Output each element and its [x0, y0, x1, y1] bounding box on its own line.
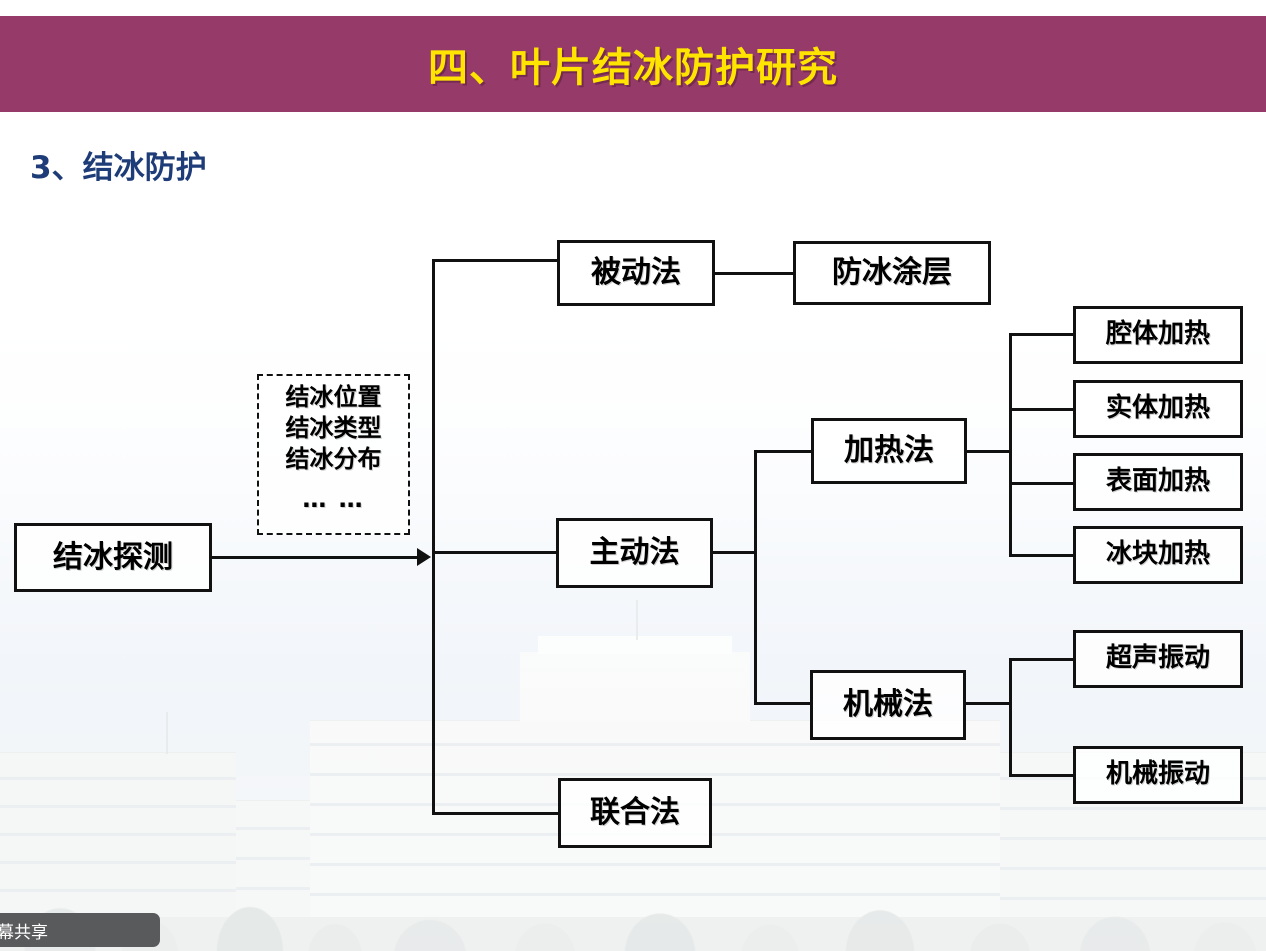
edge-trunk-to-passive [432, 259, 557, 262]
edge-heating-to-bus [967, 450, 1012, 453]
node-heating-method: 加热法 [811, 418, 967, 484]
node-combined-method: 联合法 [558, 778, 712, 848]
detection-output-line-1: 结冰位置 [286, 382, 382, 413]
detection-output-line-3: 结冰分布 [286, 444, 382, 475]
node-surface-heating-label: 表面加热 [1106, 468, 1210, 495]
node-solid-heating-label: 实体加热 [1106, 395, 1210, 422]
node-ultrasonic-vibration: 超声振动 [1073, 630, 1243, 688]
edge-trunk-to-active [432, 551, 556, 554]
edge-passive-to-coating [715, 272, 793, 275]
edge-split-to-mechanical [754, 702, 812, 705]
node-anti-icing-coating-label: 防冰涂层 [832, 257, 952, 289]
detection-output-line-2: 结冰类型 [286, 413, 382, 444]
node-surface-heating: 表面加热 [1073, 453, 1243, 511]
node-anti-icing-coating: 防冰涂层 [793, 241, 991, 305]
node-combined-method-label: 联合法 [590, 797, 680, 829]
node-mechanical-vibration-label: 机械振动 [1106, 761, 1210, 788]
screen-share-toast[interactable]: 电的屏幕共享 [0, 913, 160, 947]
arrowhead-root-to-trunk [417, 548, 431, 566]
detection-output-ellipsis: … … [302, 484, 364, 515]
edge-mechanical-bus-vertical [1009, 658, 1012, 777]
edge-bus-to-ice-block-heating [1009, 554, 1073, 557]
ice-protection-tree-diagram: 结冰探测 结冰位置 结冰类型 结冰分布 … … 被动法 主动法 联合法 [0, 0, 1266, 951]
node-passive-method: 被动法 [557, 240, 715, 306]
node-detection-outputs: 结冰位置 结冰类型 结冰分布 … … [257, 374, 410, 535]
edge-active-split-vertical [754, 450, 757, 705]
edge-bus-to-ultrasonic-vibration [1009, 658, 1073, 661]
edge-root-to-trunk [212, 556, 417, 559]
edge-bus-to-cavity-heating [1009, 333, 1073, 336]
node-mechanical-vibration: 机械振动 [1073, 746, 1243, 804]
node-ice-detection-label: 结冰探测 [53, 542, 173, 574]
node-heating-method-label: 加热法 [844, 435, 934, 467]
screen-share-toast-label: 电的屏幕共享 [0, 918, 48, 943]
node-active-method: 主动法 [556, 518, 713, 588]
edge-split-to-heating [754, 450, 812, 453]
edge-mechanical-to-bus [966, 702, 1012, 705]
node-mechanical-method: 机械法 [810, 670, 966, 740]
node-ultrasonic-vibration-label: 超声振动 [1106, 645, 1210, 672]
node-mechanical-method-label: 机械法 [843, 689, 933, 721]
node-ice-block-heating: 冰块加热 [1073, 526, 1243, 584]
node-ice-detection: 结冰探测 [14, 523, 212, 592]
presentation-slide: 四、叶片结冰防护研究 3、结冰防护 结冰探测 结冰位置 结冰类型 结冰分布 … … [0, 0, 1266, 951]
edge-heating-bus-vertical [1009, 333, 1012, 557]
edge-bus-to-surface-heating [1009, 482, 1073, 485]
node-solid-heating: 实体加热 [1073, 380, 1243, 438]
edge-trunk-vertical [432, 259, 435, 815]
node-active-method-label: 主动法 [590, 537, 680, 569]
edge-trunk-to-combined [432, 812, 558, 815]
node-cavity-heating: 腔体加热 [1073, 306, 1243, 364]
node-passive-method-label: 被动法 [591, 257, 681, 289]
node-ice-block-heating-label: 冰块加热 [1106, 541, 1210, 568]
edge-bus-to-mechanical-vibration [1009, 774, 1073, 777]
node-cavity-heating-label: 腔体加热 [1106, 321, 1210, 348]
edge-active-to-split [713, 551, 757, 554]
edge-bus-to-solid-heating [1009, 408, 1073, 411]
